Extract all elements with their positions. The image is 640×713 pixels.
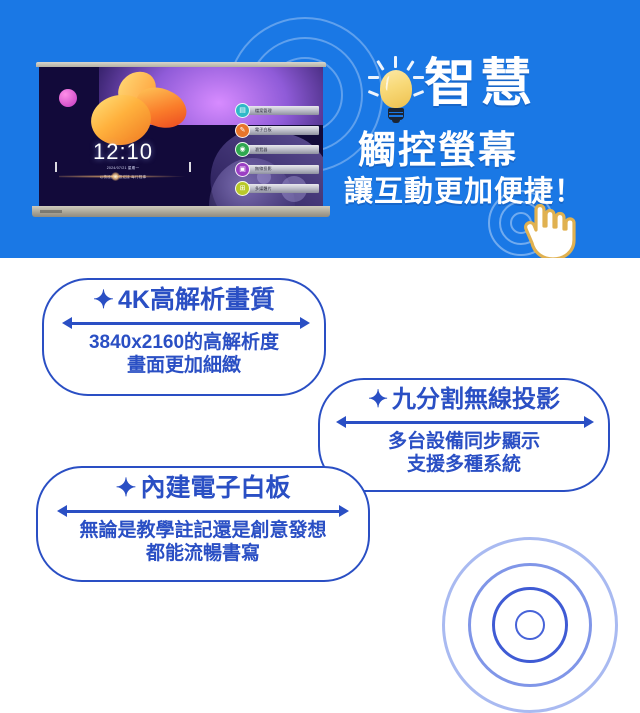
- feature-subtitle-line-1: 3840x2160的高解析度: [62, 331, 306, 354]
- hand-pointer-icon: [516, 196, 586, 258]
- feature-subtitle-line-2: 都能流暢書寫: [52, 542, 354, 565]
- feature-subtitle-line-2: 畫面更加細緻: [62, 354, 306, 377]
- feature-title: 4K高解析畫質: [118, 288, 275, 313]
- arrow-bar: [346, 421, 584, 424]
- feature-title: 內建電子白板: [140, 476, 290, 501]
- feature-card-4k: ✦ 4K高解析畫質 3840x2160的高解析度 畫面更加細緻: [42, 278, 326, 396]
- double-arrow-divider: [57, 505, 349, 517]
- arrow-bar: [72, 322, 300, 325]
- arrow-left-tip: [336, 416, 346, 428]
- sparkle-icon: ✦: [93, 288, 114, 313]
- double-arrow-divider: [336, 416, 594, 428]
- feature-title-row: ✦ 4K高解析畫質: [62, 288, 306, 313]
- decor-ring-1: [515, 610, 545, 640]
- double-arrow-divider: [62, 317, 310, 329]
- headline-line-2: 觸控螢幕: [358, 132, 518, 170]
- arrow-bar: [67, 510, 339, 513]
- feature-subtitle-line-2: 支援多種系統: [336, 453, 592, 476]
- feature-title-row: ✦ 內建電子白板: [52, 476, 354, 501]
- sparkle-icon: ✦: [116, 476, 137, 501]
- hero-banner: 12:10 2024/07/21 星期一 以積極的心態迎接 每行程事 ▤ 檔案管…: [0, 0, 640, 258]
- arrow-left-tip: [57, 505, 67, 517]
- sparkle-icon: ✦: [368, 388, 388, 412]
- feature-subtitle-line-1: 多台設備同步顯示: [336, 430, 592, 453]
- feature-title-row: ✦ 九分割無線投影: [336, 388, 592, 412]
- arrow-right-tip: [300, 317, 310, 329]
- feature-title: 九分割無線投影: [392, 388, 560, 412]
- arrow-right-tip: [584, 416, 594, 428]
- arrow-left-tip: [62, 317, 72, 329]
- feature-card-whiteboard: ✦ 內建電子白板 無論是教學註記還是創意發想 都能流暢書寫: [36, 466, 370, 582]
- feature-card-wireless-projection: ✦ 九分割無線投影 多台設備同步顯示 支援多種系統: [318, 378, 610, 492]
- feature-subtitle-line-1: 無論是教學註記還是創意發想: [52, 519, 354, 542]
- arrow-right-tip: [339, 505, 349, 517]
- headline-line-1: 智慧: [424, 58, 536, 110]
